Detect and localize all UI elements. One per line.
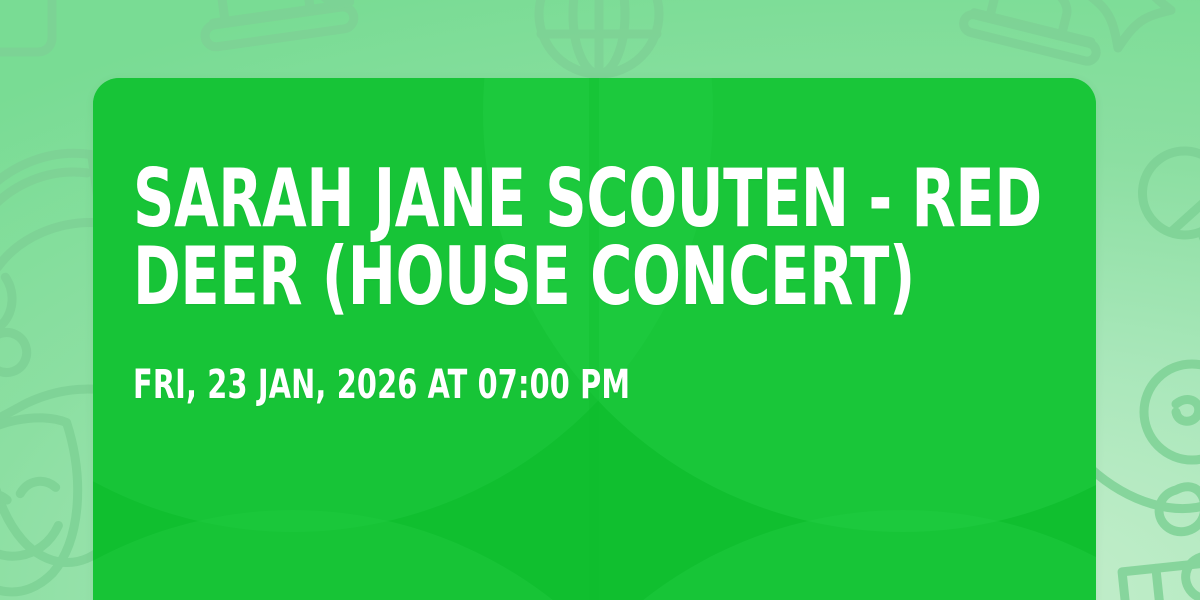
event-banner-stage: Sarah Jane Scouten - Red Deer (House Con… [0,0,1200,600]
globe-icon [539,0,659,74]
calendar-icon [0,0,52,52]
confetti-swirl-icon [1144,364,1200,460]
card-content: Sarah Jane Scouten - Red Deer (House Con… [133,78,1056,405]
event-date-time: Fri, 23 Jan, 2026 at 07:00 PM [133,365,1056,405]
stage-icon [196,0,355,48]
event-title: Sarah Jane Scouten - Red Deer (House Con… [133,160,1056,317]
ticket-icon [962,0,1109,63]
event-card[interactable]: Sarah Jane Scouten - Red Deer (House Con… [93,78,1096,600]
microphone-icon [1125,134,1200,300]
music-note-icon [1090,468,1200,599]
